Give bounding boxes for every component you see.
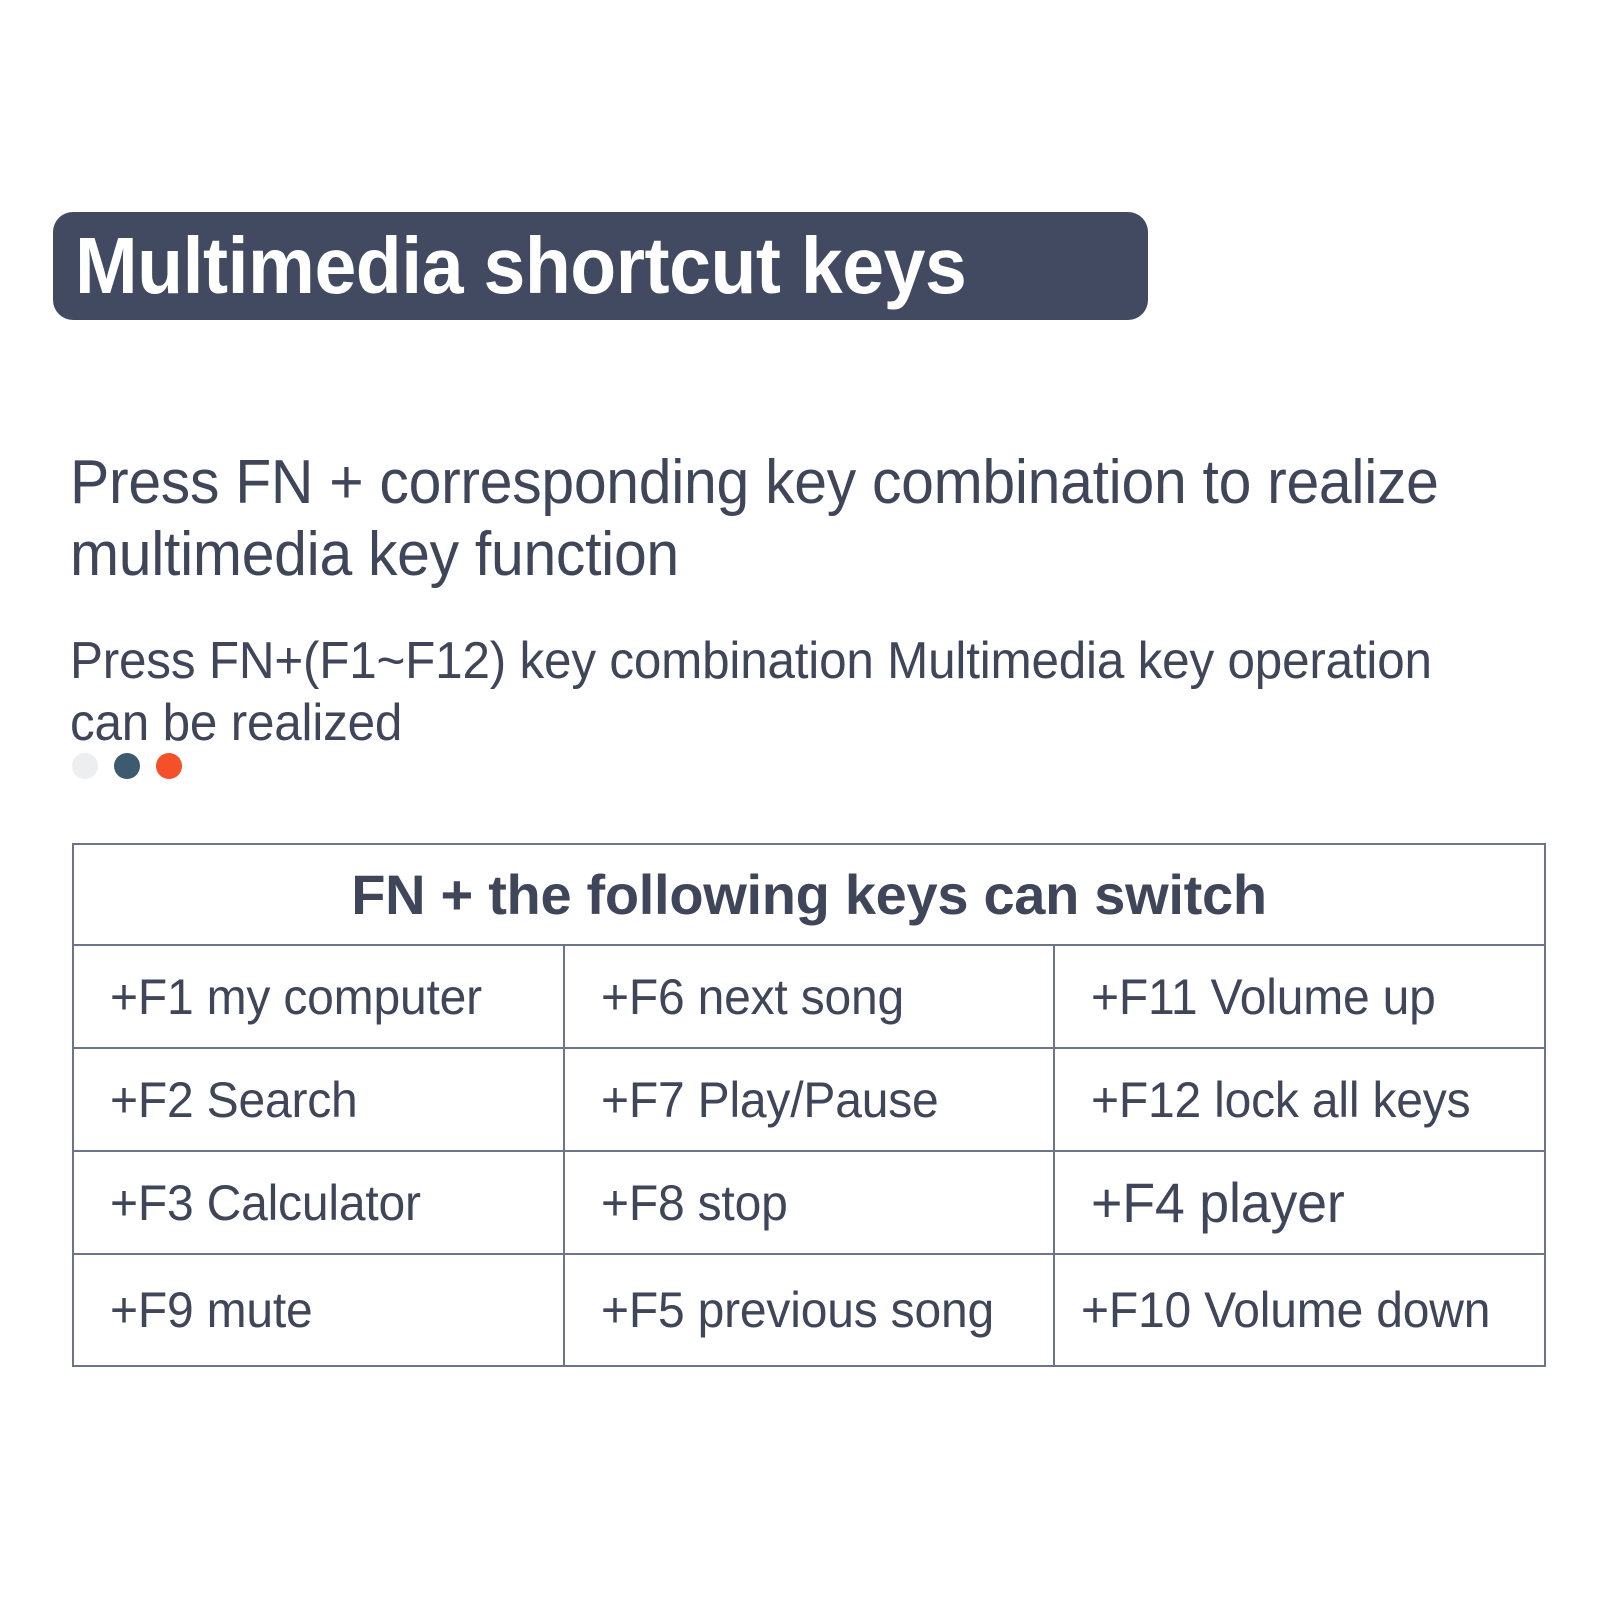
shortcut-cell-f8: +F8 stop — [564, 1151, 1055, 1254]
shortcut-cell-f12: +F12 lock all keys — [1054, 1048, 1545, 1151]
table-row: +F9 mute +F5 previous song +F10 Volume d… — [73, 1254, 1545, 1366]
shortcut-key-table: FN + the following keys can switch +F1 m… — [72, 843, 1546, 1367]
intro-sub-text: Press FN+(F1~F12) key combination Multim… — [70, 630, 1467, 754]
table-row: +F1 my computer +F6 next song +F11 Volum… — [73, 945, 1545, 1048]
shortcut-cell-f3: +F3 Calculator — [73, 1151, 564, 1254]
page-title: Multimedia shortcut keys — [75, 225, 966, 307]
shortcut-cell-f1: +F1 my computer — [73, 945, 564, 1048]
dot-inactive-icon — [72, 753, 98, 779]
shortcut-cell-f2: +F2 Search — [73, 1048, 564, 1151]
shortcut-cell-f5: +F5 previous song — [564, 1254, 1055, 1366]
table-row: +F2 Search +F7 Play/Pause +F12 lock all … — [73, 1048, 1545, 1151]
shortcut-cell-f4: +F4 player — [1054, 1151, 1545, 1254]
shortcut-cell-f9: +F9 mute — [73, 1254, 564, 1366]
table-header-row: FN + the following keys can switch — [73, 844, 1545, 945]
page-title-banner: Multimedia shortcut keys — [53, 212, 1148, 320]
dot-indicator-group — [72, 753, 182, 779]
dot-orange-icon — [156, 753, 182, 779]
table-row: +F3 Calculator +F8 stop +F4 player — [73, 1151, 1545, 1254]
dot-slate-icon — [114, 753, 140, 779]
table-body-group: +F1 my computer +F6 next song +F11 Volum… — [73, 945, 1545, 1366]
page-root: Multimedia shortcut keys Press FN + corr… — [0, 0, 1600, 1600]
intro-lead-text: Press FN + corresponding key combination… — [70, 447, 1467, 591]
shortcut-cell-f6: +F6 next song — [564, 945, 1055, 1048]
table-header-title: FN + the following keys can switch — [73, 844, 1545, 945]
shortcut-cell-f7: +F7 Play/Pause — [564, 1048, 1055, 1151]
shortcut-cell-f11: +F11 Volume up — [1054, 945, 1545, 1048]
table-head-group: FN + the following keys can switch — [73, 844, 1545, 945]
shortcut-cell-f10: +F10 Volume down — [1054, 1254, 1545, 1366]
